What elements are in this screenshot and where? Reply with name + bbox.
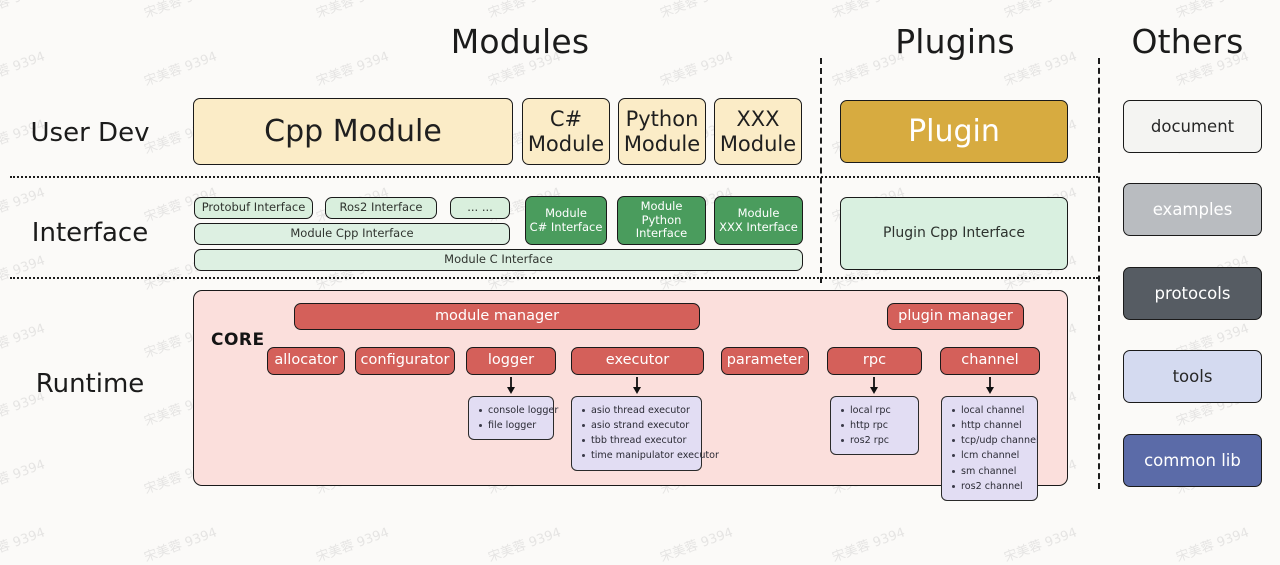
plugin-box[interactable]: Plugin	[840, 100, 1068, 163]
row-label-runtime: Runtime	[5, 369, 175, 399]
watermark-text: 宋美蓉 9394	[485, 522, 563, 565]
list-item: ros2 channel	[961, 479, 1029, 494]
module-box-xxx[interactable]: XXX Module	[714, 98, 802, 165]
core-component-rpc[interactable]: rpc	[827, 347, 922, 375]
core-component-configurator[interactable]: configurator	[355, 347, 455, 375]
watermark-text: 宋美蓉 9394	[1173, 0, 1251, 21]
core-module-manager-label: module manager	[435, 308, 559, 325]
watermark-text: 宋美蓉 9394	[0, 318, 47, 362]
watermark-text: 宋美蓉 9394	[485, 0, 563, 21]
core-rpc-sublist: local rpchttp rpcros2 rpc	[830, 396, 919, 455]
core-component-logger-label: logger	[488, 352, 534, 369]
core-component-channel[interactable]: channel	[940, 347, 1040, 375]
watermark-text: 宋美蓉 9394	[141, 46, 219, 90]
interface-box-ros2[interactable]: Ros2 Interface	[325, 197, 437, 219]
module-box-csharp-line2: Module	[528, 132, 604, 157]
core-logger-sublist: console loggerfile logger	[468, 396, 554, 440]
interface-box-protobuf[interactable]: Protobuf Interface	[194, 197, 313, 219]
interface-box-ellipsis-label: ... ...	[467, 201, 493, 215]
list-item: tbb thread executor	[591, 433, 693, 448]
list-item: sm channel	[961, 464, 1029, 479]
arrow-down-rpc-icon	[867, 376, 881, 395]
others-box-examples-label: examples	[1153, 200, 1233, 219]
interface-box-module-python[interactable]: Module Python Interface	[617, 196, 706, 245]
module-box-cpp[interactable]: Cpp Module	[193, 98, 513, 165]
module-box-xxx-line2: Module	[720, 132, 796, 157]
list-item: time manipulator executor	[591, 448, 693, 463]
watermark-text: 宋美蓉 9394	[1173, 522, 1251, 565]
watermark-text: 宋美蓉 9394	[0, 522, 47, 565]
interface-box-module-python-line2: Python Interface	[618, 214, 705, 241]
module-box-cpp-label: Cpp Module	[264, 114, 442, 149]
watermark-text: 宋美蓉 9394	[0, 250, 47, 294]
list-item: console logger	[488, 403, 545, 418]
core-label: CORE	[211, 330, 265, 350]
interface-box-module-xxx-line1: Module	[738, 207, 780, 221]
core-component-configurator-label: configurator	[361, 352, 450, 369]
others-box-tools-label: tools	[1173, 367, 1213, 386]
core-component-executor-label: executor	[606, 352, 669, 369]
module-box-python-line1: Python	[626, 107, 699, 132]
others-box-protocols-label: protocols	[1155, 284, 1231, 303]
list-item: asio thread executor	[591, 403, 693, 418]
list-item: local channel	[961, 403, 1029, 418]
watermark-text: 宋美蓉 9394	[657, 522, 735, 565]
arrow-down-executor-icon	[630, 376, 644, 395]
others-box-protocols[interactable]: protocols	[1123, 267, 1262, 320]
core-channel-sublist-items: local channelhttp channeltcp/udp channel…	[950, 403, 1029, 494]
module-box-python-line2: Module	[624, 132, 700, 157]
interface-box-protobuf-label: Protobuf Interface	[202, 201, 306, 215]
list-item: http channel	[961, 418, 1029, 433]
core-module-manager[interactable]: module manager	[294, 303, 700, 330]
interface-box-module-python-line1: Module	[641, 200, 683, 214]
list-item: lcm channel	[961, 448, 1029, 463]
interface-box-module-cpp-label: Module Cpp Interface	[290, 227, 413, 241]
interface-box-module-c[interactable]: Module C Interface	[194, 249, 803, 271]
others-box-common-lib-label: common lib	[1144, 451, 1241, 470]
list-item: ros2 rpc	[850, 433, 910, 448]
divider-interface-runtime	[10, 277, 1098, 279]
watermark-text: 宋美蓉 9394	[657, 0, 735, 21]
list-item: asio strand executor	[591, 418, 693, 433]
divider-userdev-interface	[10, 176, 1098, 178]
row-label-user-dev: User Dev	[5, 118, 175, 148]
arrow-down-logger-icon	[504, 376, 518, 395]
others-box-document-label: document	[1151, 117, 1234, 136]
interface-box-ellipsis[interactable]: ... ...	[450, 197, 510, 219]
core-component-parameter-label: parameter	[727, 352, 804, 369]
arrow-down-channel-icon	[983, 376, 997, 395]
others-box-examples[interactable]: examples	[1123, 183, 1262, 236]
module-box-csharp[interactable]: C# Module	[522, 98, 610, 165]
watermark-text: 宋美蓉 9394	[0, 46, 47, 90]
core-component-parameter[interactable]: parameter	[721, 347, 809, 375]
list-item: tcp/udp channel	[961, 433, 1029, 448]
watermark-text: 宋美蓉 9394	[1001, 522, 1079, 565]
others-box-document[interactable]: document	[1123, 100, 1262, 153]
watermark-text: 宋美蓉 9394	[1001, 0, 1079, 21]
plugin-box-label: Plugin	[908, 114, 1000, 149]
core-plugin-manager-label: plugin manager	[898, 308, 1013, 325]
architecture-diagram: 宋美蓉 9394宋美蓉 9394宋美蓉 9394宋美蓉 9394宋美蓉 9394…	[0, 0, 1280, 519]
core-logger-sublist-items: console loggerfile logger	[477, 403, 545, 433]
interface-box-plugin-cpp[interactable]: Plugin Cpp Interface	[840, 197, 1068, 270]
interface-box-module-cpp[interactable]: Module Cpp Interface	[194, 223, 510, 245]
interface-box-ros2-label: Ros2 Interface	[340, 201, 423, 215]
divider-plugins-others	[1098, 58, 1100, 489]
watermark-text: 宋美蓉 9394	[141, 522, 219, 565]
others-box-tools[interactable]: tools	[1123, 350, 1262, 403]
core-rpc-sublist-items: local rpchttp rpcros2 rpc	[839, 403, 910, 448]
watermark-text: 宋美蓉 9394	[141, 0, 219, 21]
core-component-rpc-label: rpc	[863, 352, 886, 369]
core-component-allocator-label: allocator	[274, 352, 337, 369]
module-box-xxx-line1: XXX	[736, 107, 779, 132]
watermark-text: 宋美蓉 9394	[829, 522, 907, 565]
core-executor-sublist-items: asio thread executorasio strand executor…	[580, 403, 693, 464]
list-item: http rpc	[850, 418, 910, 433]
interface-box-module-csharp[interactable]: Module C# Interface	[525, 196, 607, 245]
interface-box-module-csharp-line2: C# Interface	[530, 221, 603, 235]
core-plugin-manager[interactable]: plugin manager	[887, 303, 1024, 330]
interface-box-plugin-cpp-label: Plugin Cpp Interface	[883, 225, 1025, 242]
list-item: local rpc	[850, 403, 910, 418]
interface-box-module-c-label: Module C Interface	[444, 253, 553, 267]
core-component-logger[interactable]: logger	[466, 347, 556, 375]
column-header-others: Others	[1100, 22, 1275, 61]
watermark-text: 宋美蓉 9394	[0, 0, 47, 21]
others-box-common-lib[interactable]: common lib	[1123, 434, 1262, 487]
core-component-executor[interactable]: executor	[571, 347, 704, 375]
watermark-text: 宋美蓉 9394	[313, 0, 391, 21]
core-executor-sublist: asio thread executorasio strand executor…	[571, 396, 702, 471]
list-item: file logger	[488, 418, 545, 433]
column-header-plugins: Plugins	[830, 22, 1080, 61]
module-box-csharp-line1: C#	[550, 107, 582, 132]
interface-box-module-xxx-line2: XXX Interface	[719, 221, 798, 235]
watermark-text: 宋美蓉 9394	[313, 522, 391, 565]
module-box-python[interactable]: Python Module	[618, 98, 706, 165]
divider-modules-plugins	[820, 58, 822, 283]
interface-box-module-xxx[interactable]: Module XXX Interface	[714, 196, 803, 245]
core-component-allocator[interactable]: allocator	[267, 347, 345, 375]
interface-box-module-csharp-line1: Module	[545, 207, 587, 221]
column-header-modules: Modules	[340, 22, 700, 61]
row-label-interface: Interface	[5, 218, 175, 248]
watermark-text: 宋美蓉 9394	[829, 0, 907, 21]
core-channel-sublist: local channelhttp channeltcp/udp channel…	[941, 396, 1038, 501]
core-component-channel-label: channel	[961, 352, 1018, 369]
watermark-text: 宋美蓉 9394	[0, 454, 47, 498]
